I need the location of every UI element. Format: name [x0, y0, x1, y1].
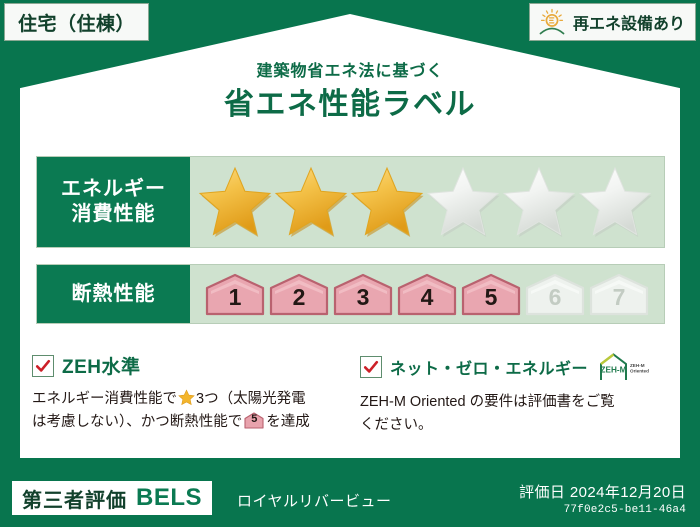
energy-star-rating	[190, 157, 664, 247]
star-filled-icon	[350, 166, 424, 238]
insulation-grade-number: 5	[485, 286, 498, 316]
net-zero-description-line-1: ZEH-M Oriented の要件は評価書をご覧	[360, 391, 678, 414]
insulation-grade-number: 2	[293, 286, 306, 316]
bels-certification-badge: 第三者評価 BELS	[12, 481, 212, 515]
net-zero-criteria-block: ネット・ゼロ・エネルギー ZEH-M ZEH-M Oriented ZEH-M …	[360, 352, 678, 438]
bels-logo-text: BELS	[136, 484, 202, 512]
net-zero-checkbox[interactable]	[360, 356, 382, 378]
net-zero-description-line-2: ください。	[360, 414, 678, 437]
energy-label-line1: エネルギー	[61, 177, 166, 202]
page-title: 省エネ性能ラベル	[0, 85, 700, 126]
inline-star-icon	[178, 389, 195, 406]
check-icon	[35, 358, 51, 374]
star-empty-icon	[502, 166, 576, 238]
zeh-description-line2-a: は考慮しない）、かつ断熱性能で	[32, 414, 242, 430]
insulation-performance-label-box: 断熱性能	[37, 265, 190, 323]
zeh-m-logo-sub-line2: Oriented	[630, 369, 649, 374]
energy-label-line2: 消費性能	[72, 202, 156, 227]
zeh-criteria-description: エネルギー消費性能で3つ（太陽光発電 は考慮しない）、かつ断熱性能で5を達成	[32, 388, 344, 435]
zeh-m-logo-text: ZEH-M	[601, 366, 627, 375]
insulation-performance-row: 断熱性能 1234567	[36, 264, 665, 324]
zeh-checkbox[interactable]	[32, 355, 54, 377]
insulation-grade-badge: 4	[396, 272, 458, 316]
insulation-grade-badge: 3	[332, 272, 394, 316]
renewable-equipment-badge-label: 再エネ設備あり	[573, 10, 685, 34]
evaluation-date: 評価日 2024年12月20日	[519, 481, 686, 502]
insulation-grade-rating: 1234567	[190, 265, 664, 323]
zeh-m-logo: ZEH-M ZEH-M Oriented	[596, 352, 658, 382]
renewable-equipment-badge: 再エネ設備あり	[529, 3, 696, 41]
insulation-label-line1: 断熱性能	[72, 282, 156, 307]
zeh-description-line1-b: 3つ（太陽光発電	[196, 391, 306, 407]
zeh-criteria-block: ZEH水準 エネルギー消費性能で3つ（太陽光発電 は考慮しない）、かつ断熱性能で…	[32, 352, 344, 435]
star-filled-icon	[198, 166, 272, 238]
energy-performance-row: エネルギー 消費性能	[36, 156, 665, 248]
zeh-description-line2-b: を達成	[266, 414, 310, 430]
grade-list: 1234567	[198, 272, 650, 316]
insulation-grade-number: 3	[357, 286, 370, 316]
label-id: 77f0e2c5-be11-46a4	[519, 504, 686, 516]
insulation-grade-number: 6	[549, 286, 562, 316]
zeh-description-line-2: は考慮しない）、かつ断熱性能で5を達成	[32, 411, 344, 434]
insulation-grade-badge: 1	[204, 272, 266, 316]
insulation-grade-badge: 2	[268, 272, 330, 316]
net-zero-criteria-description: ZEH-M Oriented の要件は評価書をご覧 ください。	[360, 391, 678, 438]
insulation-grade-number: 4	[421, 286, 434, 316]
check-icon	[363, 359, 379, 375]
evaluation-meta: 評価日 2024年12月20日 77f0e2c5-be11-46a4	[519, 481, 686, 516]
house-type-badge: 住宅（住棟）	[4, 3, 149, 41]
insulation-grade-badge: 5	[460, 272, 522, 316]
project-name: ロイヤルリバービュー	[237, 490, 392, 511]
zeh-description-line-1: エネルギー消費性能で3つ（太陽光発電	[32, 388, 344, 411]
insulation-grade-number: 7	[613, 286, 626, 316]
zeh-criteria-title: ZEH水準	[62, 352, 141, 379]
star-filled-icon	[274, 166, 348, 238]
energy-performance-label-box: エネルギー 消費性能	[37, 157, 190, 247]
net-zero-criteria-header: ネット・ゼロ・エネルギー ZEH-M ZEH-M Oriented	[360, 352, 678, 382]
zeh-description-line1-a: エネルギー消費性能で	[32, 391, 177, 407]
zeh-m-logo-sub-line1: ZEH-M	[630, 363, 645, 368]
star-list	[198, 166, 652, 238]
star-empty-icon	[578, 166, 652, 238]
third-party-evaluation-label: 第三者評価	[22, 484, 127, 513]
energy-performance-label: 住宅（住棟） 再エネ設備あり 建築物省エネ法に基づく	[0, 0, 700, 527]
zeh-criteria-header: ZEH水準	[32, 352, 344, 379]
inline-grade-number: 5	[244, 412, 264, 429]
net-zero-criteria-title: ネット・ゼロ・エネルギー	[390, 355, 588, 379]
sun-icon	[537, 8, 567, 36]
house-type-badge-label: 住宅（住棟）	[18, 9, 135, 36]
insulation-grade-number: 1	[229, 286, 242, 316]
star-empty-icon	[426, 166, 500, 238]
insulation-grade-badge: 7	[588, 272, 650, 316]
insulation-grade-badge: 6	[524, 272, 586, 316]
inline-grade-badge: 5	[244, 412, 264, 429]
heading-subtitle: 建築物省エネ法に基づく	[0, 62, 700, 83]
label-heading: 建築物省エネ法に基づく 省エネ性能ラベル	[0, 62, 700, 125]
